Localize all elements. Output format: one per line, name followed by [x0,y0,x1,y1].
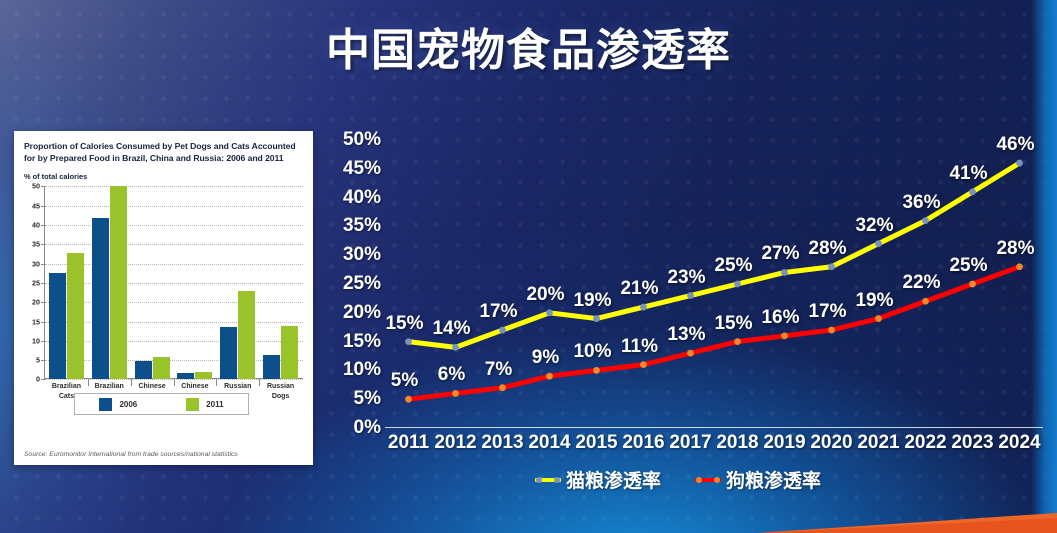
inset-bar-group: ChineseDogs [174,186,217,379]
inset-bar [177,373,194,379]
legend-label: 狗粮渗透率 [726,466,821,493]
x-axis-tick: 2024 [998,432,1040,454]
inset-bar [238,291,255,379]
inset-bar [49,273,66,379]
y-axis-tick: 40% [343,187,381,209]
data-point-marker [922,298,929,305]
inset-legend-item-2: 2011 [186,398,223,411]
data-point-marker [593,315,600,322]
data-point-marker [452,390,459,397]
inset-y-tick-label: 5 [36,356,40,365]
inset-bar [281,326,298,379]
inset-bar [195,372,212,380]
data-point-marker [922,217,929,224]
y-axis-tick: 25% [343,273,381,295]
inset-x-label-line: Dogs [254,392,308,401]
inset-tickmark [41,379,45,380]
inset-legend-swatch-icon [186,398,199,411]
x-axis-tick: 2017 [669,432,711,454]
inset-bar [67,253,84,380]
orange-swoosh-accent [757,487,1057,533]
inset-legend-swatch-icon [99,398,112,411]
data-point-marker [499,327,506,334]
x-axis-labels: 2011201220132014201520162017201820192020… [385,432,1043,462]
x-axis-tick: 2021 [857,432,899,454]
inset-y-tick-label: 40 [32,221,40,230]
y-axis-tick: 5% [354,388,381,410]
plot-area: 15%14%17%20%19%21%23%25%27%28%32%36%41%4… [385,140,1043,428]
inset-bar-group: BrazilianDogs [88,186,131,379]
y-axis-tick: 20% [343,302,381,324]
inset-group-separator [259,379,260,386]
inset-legend-label: 2006 [119,400,137,409]
inset-group-separator [88,379,89,386]
inset-y-tick-label: 25 [32,278,40,287]
page-title: 中国宠物食品渗透率 [0,14,1057,78]
inset-y-tick-label: 45 [32,201,40,210]
data-point-marker [405,396,412,403]
y-axis-tick: 15% [343,331,381,353]
legend-item-1[interactable]: 猫粮渗透率 [535,466,661,493]
x-axis-tick: 2013 [481,432,523,454]
y-axis-tick: 30% [343,244,381,266]
inset-legend-label: 2011 [206,400,223,409]
x-axis-tick: 2022 [904,432,946,454]
data-point-marker [499,384,506,391]
inset-y-tick-label: 30 [32,259,40,268]
x-axis-tick: 2016 [622,432,664,454]
inset-x-label: RussianDogs [254,382,308,400]
inset-chart-subtitle: % of total calories [24,172,303,181]
legend-label: 猫粮渗透率 [566,466,661,493]
inset-bar-group: RussianDogs [259,186,302,379]
inset-plot-area: 05101520253035404550 BrazilianCatsBrazil… [24,186,303,405]
inset-y-tick-label: 35 [32,240,40,249]
legend-swatch-icon [535,474,561,485]
inset-y-tick-label: 50 [32,182,40,191]
data-point-marker [969,281,976,288]
data-point-marker [781,269,788,276]
data-point-marker [405,338,412,345]
inset-bar [92,218,109,379]
inset-bar-group: RussianCats [216,186,259,379]
inset-bar [263,355,280,379]
inset-y-tick-label: 20 [32,298,40,307]
data-point-marker [781,332,788,339]
data-point-marker [687,292,694,299]
y-axis-tick: 10% [343,359,381,381]
x-axis-tick: 2015 [575,432,617,454]
data-point-marker [875,315,882,322]
data-point-marker [452,344,459,351]
inset-x-label-line: Russian [254,382,308,391]
inset-group-separator [216,379,217,386]
slide-canvas: 中国宠物食品渗透率 Proportion of Calories Consume… [0,0,1057,533]
y-axis-labels: 0%5%10%15%20%25%30%35%40%45%50% [313,140,385,428]
x-axis-tick: 2020 [810,432,852,454]
data-point-marker [969,188,976,195]
x-axis-tick: 2012 [434,432,476,454]
legend-item-2[interactable]: 狗粮渗透率 [695,466,821,493]
data-point-marker [640,304,647,311]
x-axis-tick: 2014 [528,432,570,454]
y-axis-tick: 50% [343,129,381,151]
x-axis-line [385,427,1043,428]
legend-swatch-icon [695,474,721,485]
inset-group-separator [131,379,132,386]
main-chart: 0%5%10%15%20%25%30%35%40%45%50% 15%14%17… [313,140,1043,440]
inset-bar [135,361,152,380]
inset-bar-group: ChineseCats [131,186,174,379]
data-point-marker [734,338,741,345]
inset-legend: 20062011 [74,393,249,415]
chart-legend: 猫粮渗透率狗粮渗透率 [313,466,1043,493]
data-point-marker [546,309,553,316]
data-point-marker [640,361,647,368]
data-point-marker [828,327,835,334]
x-axis-tick: 2023 [951,432,993,454]
series-line-1 [409,163,1020,347]
inset-bar-group: BrazilianCats [45,186,88,379]
inset-chart-title: Proportion of Calories Consumed by Pet D… [24,140,303,164]
inset-bar [220,327,237,380]
x-axis-tick: 2019 [763,432,805,454]
inset-legend-item-1: 2006 [99,398,137,411]
data-point-marker [875,240,882,247]
data-point-marker [546,373,553,380]
inset-bar [153,357,170,380]
x-axis-tick: 2018 [716,432,758,454]
data-point-marker [828,263,835,270]
inset-y-tick-label: 10 [32,336,40,345]
x-axis-tick: 2011 [388,432,429,454]
inset-y-tick-label: 15 [32,317,40,326]
data-point-marker [734,281,741,288]
inset-source-note: Source: Euromonitor International from t… [24,451,238,458]
data-point-marker [1016,263,1023,270]
y-axis-tick: 0% [354,417,381,439]
y-axis-tick: 35% [343,215,381,237]
inset-chart-panel: Proportion of Calories Consumed by Pet D… [14,131,313,465]
data-point-marker [1016,160,1023,167]
y-axis-tick: 45% [343,158,381,180]
data-point-marker [687,350,694,357]
series-lines [385,140,1043,428]
data-point-marker [593,367,600,374]
inset-group-separator [174,379,175,386]
inset-bar [110,186,127,380]
